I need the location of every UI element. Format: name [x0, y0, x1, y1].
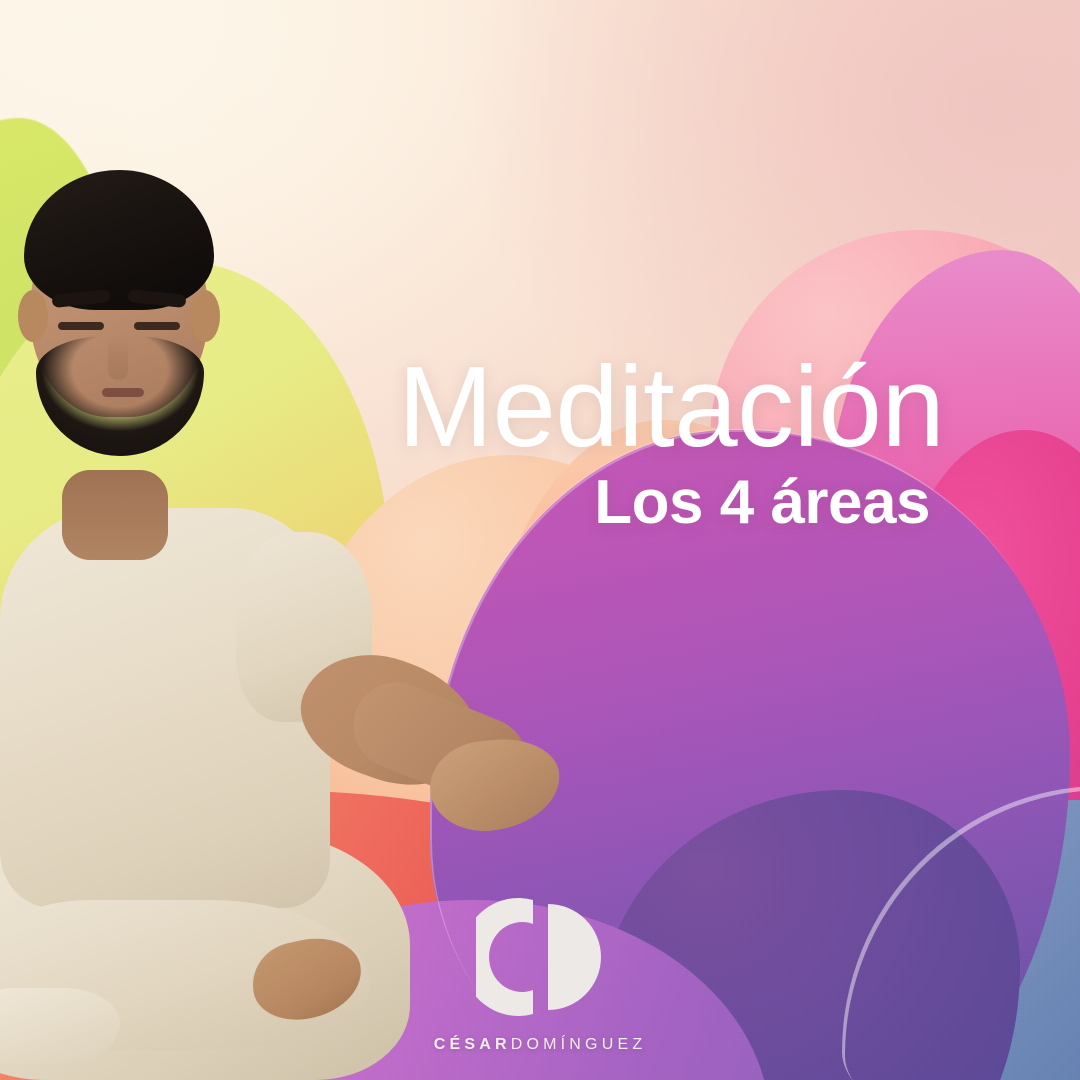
person-mouth [102, 388, 144, 397]
brand-wordmark-second: DOMÍNGUEZ [511, 1036, 647, 1053]
person-left-eye-closed [58, 322, 104, 330]
person-right-ear [190, 290, 220, 342]
person-left-ear [18, 290, 48, 342]
logo-letter-d [548, 904, 601, 1010]
cd-monogram-icon [476, 896, 604, 1018]
brand-wordmark: CÉSARDOMÍNGUEZ [434, 1036, 647, 1054]
poster-canvas: Meditación Los 4 áreas CÉSARDOMÍNGUEZ [0, 0, 1080, 1080]
person-hair [24, 170, 214, 310]
page-subtitle: Los 4 áreas [398, 472, 1038, 534]
brand-logo: CÉSARDOMÍNGUEZ [0, 896, 1080, 1054]
person-neck [62, 470, 168, 560]
person-nose [108, 336, 128, 380]
logo-letter-c [476, 898, 533, 1016]
headline-block: Meditación Los 4 áreas [398, 354, 1038, 534]
person-right-eye-closed [134, 322, 180, 330]
brand-wordmark-first: CÉSAR [434, 1036, 511, 1053]
page-title: Meditación [398, 354, 1038, 462]
